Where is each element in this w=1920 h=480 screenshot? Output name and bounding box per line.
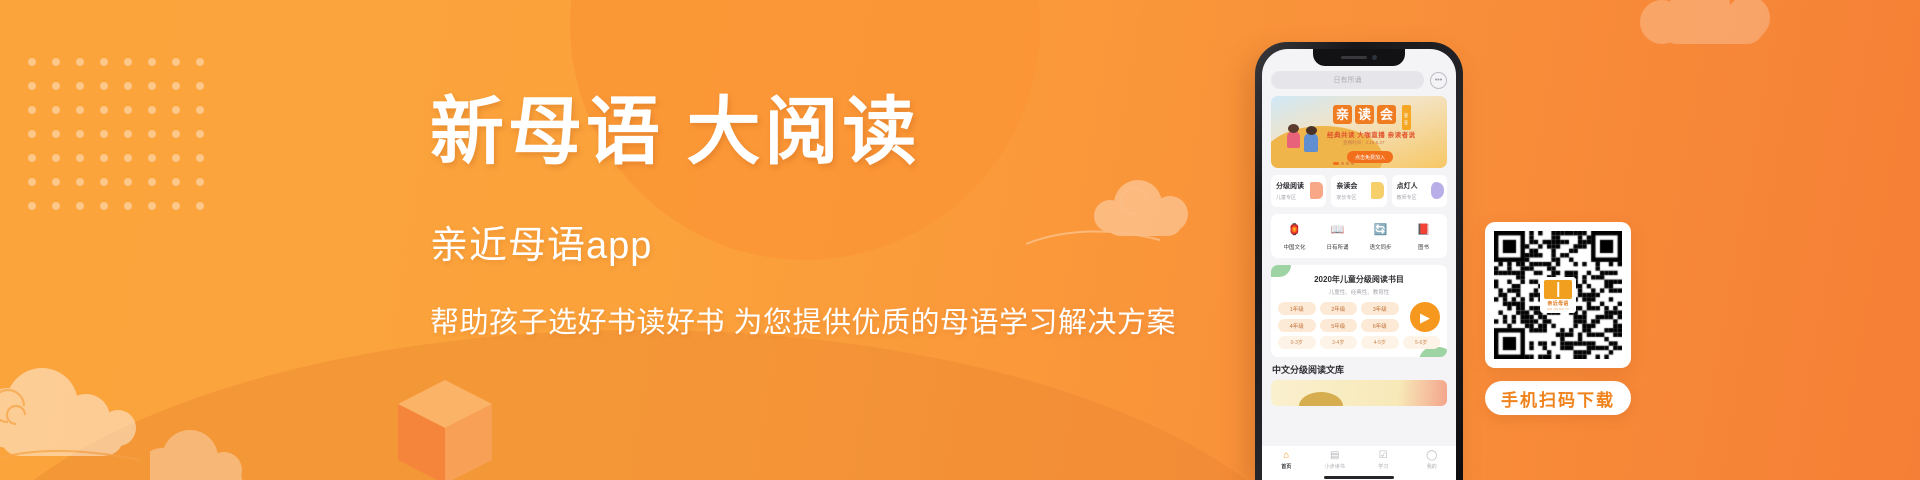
grade-chip-5[interactable]: 5年级 (1320, 319, 1358, 332)
hero-date: 直播时间：4.16-5.27 (1343, 140, 1385, 146)
hill-decoration (0, 330, 1340, 480)
quick-icon-label: 日有所诵 (1316, 243, 1359, 251)
hero-title-char-2: 读 (1355, 105, 1374, 124)
page-title: 新母语 大阅读 (430, 96, 1176, 170)
cloud-decoration-top-right (1640, 0, 1860, 76)
app-booklist-card: 2020年儿童分级阅读书目 儿童性、经典性、教育性 1年级 2年级 3年级 4年… (1271, 265, 1447, 357)
cube-decoration (398, 380, 492, 480)
entry-card-teachers[interactable]: 点灯人 教师专区 (1392, 175, 1447, 207)
book-logo-icon (1544, 280, 1572, 299)
age-chip-2[interactable]: 3-4岁 (1320, 336, 1358, 349)
lantern-icon: 🏮 (1286, 222, 1303, 239)
phone-screen: 日有所诵 ••• 亲 读 会 第二季 经典共读 大咖直播 亲读者说 直 (1262, 49, 1456, 480)
quick-icon-books[interactable]: 📕 图书 (1402, 222, 1445, 251)
age-chip-4[interactable]: 5-6岁 (1403, 336, 1441, 349)
qr-download-block: 亲近母语 QIN JIN MU YU 手机扫码下载 (1485, 222, 1631, 415)
hero-ribbon-badge: 第二季 (1402, 105, 1411, 130)
tab-label: 首页 (1262, 463, 1311, 470)
quick-icon-chinese-culture[interactable]: 🏮 中国文化 (1273, 222, 1316, 251)
home-icon: ⌂ (1262, 451, 1311, 461)
tagline: 帮助孩子选好书读好书 为您提供优质的母语学习解决方案 (430, 299, 1176, 341)
booklist-grade-grid: 1年级 2年级 3年级 4年级 5年级 6年级 0-3岁 3-4岁 4-5岁 5… (1278, 302, 1440, 349)
sync-icon: 🔄 (1372, 222, 1389, 239)
dot-grid-decoration (28, 58, 220, 226)
quick-icon-label: 图书 (1402, 243, 1445, 251)
hero-illustration-child-2 (1304, 133, 1318, 152)
front-camera (1372, 55, 1377, 60)
app-search-row: 日有所诵 ••• (1271, 71, 1447, 89)
book-open-icon: 📖 (1329, 222, 1346, 239)
qr-logo-pinyin: QIN JIN MU YU (1547, 308, 1569, 311)
grade-chip-4[interactable]: 4年级 (1278, 319, 1316, 332)
books-icon: 📕 (1415, 222, 1432, 239)
grade-chip-6[interactable]: 6年级 (1361, 319, 1399, 332)
cloud-decoration-bottom-left-2 (150, 418, 300, 480)
subtitle: 亲近母语app (430, 214, 1176, 269)
entry-card-graded-reading[interactable]: 分级阅读 儿童专区 (1271, 175, 1326, 207)
phone-notch (1313, 49, 1405, 66)
qr-logo-text: 亲近母语 (1547, 300, 1568, 307)
grade-chip-1[interactable]: 1年级 (1278, 302, 1316, 315)
qr-card[interactable]: 亲近母语 QIN JIN MU YU (1485, 222, 1631, 368)
quick-icon-label: 语文同步 (1359, 243, 1402, 251)
hero-title-char-3: 会 (1377, 105, 1396, 124)
booklist-subtitle: 儿童性、经典性、教育性 (1278, 288, 1440, 296)
grade-chip-3[interactable]: 3年级 (1361, 302, 1399, 315)
tab-label: 小步读书 (1311, 463, 1360, 470)
study-icon: ☑ (1359, 451, 1408, 461)
message-icon[interactable]: ••• (1430, 72, 1447, 89)
app-quick-icon-row: 🏮 中国文化 📖 日有所诵 🔄 语文同步 📕 图书 (1271, 214, 1447, 258)
quick-icon-curriculum-sync[interactable]: 🔄 语文同步 (1359, 222, 1402, 251)
reading-icon: ▤ (1311, 451, 1360, 461)
book-chip-icon (1371, 182, 1384, 199)
tab-reading[interactable]: ▤ 小步读书 (1311, 451, 1360, 470)
section-preview-card[interactable] (1271, 380, 1447, 406)
age-chip-1[interactable]: 0-3岁 (1278, 336, 1316, 349)
qr-center-logo: 亲近母语 QIN JIN MU YU (1540, 277, 1576, 313)
age-chip-3[interactable]: 4-5岁 (1361, 336, 1399, 349)
book-chip-icon (1310, 182, 1323, 199)
video-play-icon[interactable]: ▶ (1410, 302, 1440, 332)
booklist-title: 2020年儿童分级阅读书目 (1278, 274, 1440, 285)
tab-home[interactable]: ⌂ 首页 (1262, 451, 1311, 470)
earpiece-speaker (1341, 56, 1367, 59)
tab-study[interactable]: ☑ 学习 (1359, 451, 1408, 470)
copy-block: 新母语 大阅读 亲近母语app 帮助孩子选好书读好书 为您提供优质的母语学习解决… (430, 96, 1176, 341)
section-title: 中文分级阅读文库 (1272, 363, 1447, 376)
hero-title: 亲 读 会 第二季 (1333, 105, 1411, 130)
phone-mockup: 日有所诵 ••• 亲 读 会 第二季 经典共读 大咖直播 亲读者说 直 (1255, 42, 1463, 480)
download-button[interactable]: 手机扫码下载 (1485, 381, 1631, 415)
grade-chip-2[interactable]: 2年级 (1320, 302, 1358, 315)
quick-icon-label: 中国文化 (1273, 243, 1316, 251)
promo-banner: 新母语 大阅读 亲近母语app 帮助孩子选好书读好书 为您提供优质的母语学习解决… (0, 0, 1920, 480)
hero-illustration-child-1 (1287, 131, 1300, 148)
profile-icon: ◯ (1408, 451, 1457, 461)
hero-title-char-1: 亲 (1333, 105, 1352, 124)
entry-card-reading-club[interactable]: 亲读会 家长专区 (1331, 175, 1386, 207)
tab-label: 我的 (1408, 463, 1457, 470)
cloud-decoration-bottom-left (0, 356, 200, 476)
hero-subtitle: 经典共读 大咖直播 亲读者说 (1327, 129, 1416, 139)
quick-icon-daily-recitation[interactable]: 📖 日有所诵 (1316, 222, 1359, 251)
hero-carousel-dots[interactable] (1333, 162, 1354, 165)
tab-profile[interactable]: ◯ 我的 (1408, 451, 1457, 470)
app-hero-banner[interactable]: 亲 读 会 第二季 经典共读 大咖直播 亲读者说 直播时间：4.16-5.27 … (1271, 96, 1447, 168)
book-chip-icon (1431, 182, 1444, 199)
app-entry-cards: 分级阅读 儿童专区 亲读会 家长专区 点灯人 教师专区 (1271, 175, 1447, 207)
search-input[interactable]: 日有所诵 (1271, 71, 1424, 89)
home-indicator (1324, 476, 1394, 479)
tab-label: 学习 (1359, 463, 1408, 470)
app-tab-bar: ⌂ 首页 ▤ 小步读书 ☑ 学习 ◯ 我的 (1262, 446, 1456, 480)
